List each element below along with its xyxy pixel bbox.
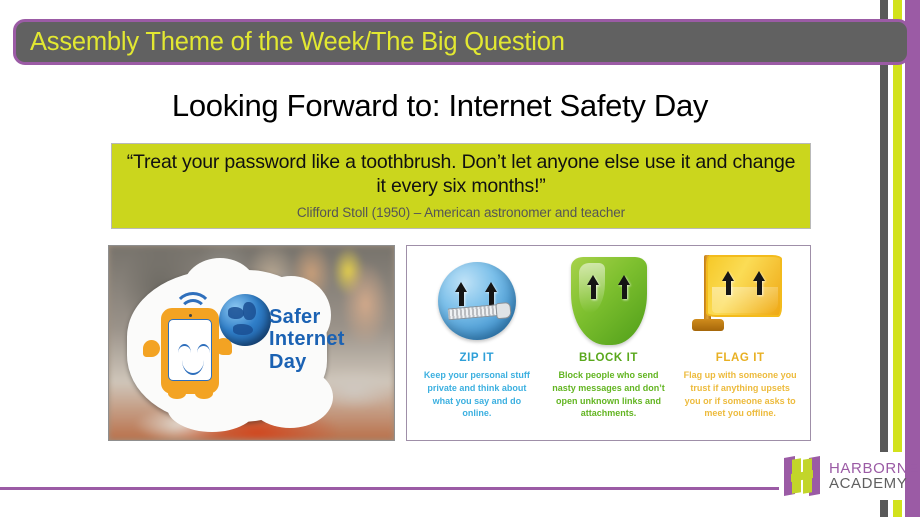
logo-text: HARBORNE ACADEMY (829, 461, 919, 491)
sign-caption-line3: Day (269, 351, 345, 373)
mascot-eye-right (197, 344, 210, 353)
bottom-divider (0, 487, 804, 490)
edge-stripe-green (893, 0, 902, 517)
globe-landmass (233, 324, 253, 335)
banner: Assembly Theme of the Week/The Big Quest… (13, 19, 910, 65)
mascot-foot-right (195, 388, 213, 399)
advice-title: ZIP IT (459, 352, 494, 364)
phone-mascot-icon (161, 308, 219, 394)
arrow-eyes (571, 275, 647, 299)
sign-lobe (247, 366, 333, 428)
photo-sign-board: Safer Internet Day (127, 270, 327, 422)
mascot-smile (182, 360, 204, 375)
advice-item-block-it: BLOCK IT Block people who send nasty mes… (543, 252, 675, 436)
school-logo: HARBORNE ACADEMY (779, 452, 905, 500)
shield-icon (571, 257, 647, 345)
mascot-foot-left (168, 388, 186, 399)
quote-attribution: Clifford Stoll (1950) – American astrono… (122, 205, 800, 220)
zipper-icon (447, 304, 504, 321)
flag-base (692, 319, 724, 331)
advice-body: Block people who send nasty messages and… (543, 369, 675, 420)
zipper-pull (495, 302, 511, 319)
globe-landmass (228, 307, 244, 319)
edge-stripe-gray (880, 0, 888, 517)
advice-body: Keep your personal stuff private and thi… (411, 369, 543, 420)
page-title: Looking Forward to: Internet Safety Day (0, 88, 880, 124)
arrow-eyes (708, 271, 780, 295)
zip-stand (455, 334, 499, 346)
phone-screen (168, 319, 212, 381)
online-safety-advice-panel: ZIP IT Keep your personal stuff private … (406, 245, 811, 441)
advice-title: FLAG IT (716, 352, 765, 364)
logo-line-harborne: HARBORNE (829, 461, 919, 476)
banner-title: Assembly Theme of the Week/The Big Quest… (16, 28, 565, 57)
globe-landmass (243, 302, 256, 320)
advice-item-flag-it: FLAG IT Flag up with someone you trust i… (674, 252, 806, 436)
advice-art (438, 252, 516, 350)
mascot-hand-left (143, 340, 160, 357)
up-arrow-icon (618, 275, 631, 299)
advice-art (694, 252, 786, 350)
sign-caption-line1: Safer (269, 306, 345, 328)
sign-caption: Safer Internet Day (269, 306, 345, 373)
advice-item-zip-it: ZIP IT Keep your personal stuff private … (411, 252, 543, 436)
up-arrow-icon (587, 275, 600, 299)
flag-icon (694, 253, 786, 349)
sign-caption-line2: Internet (269, 328, 345, 350)
quote-box: “Treat your password like a toothbrush. … (111, 143, 811, 229)
up-arrow-icon (455, 282, 468, 306)
up-arrow-icon (753, 271, 766, 295)
safer-internet-day-photo: Safer Internet Day (108, 245, 395, 441)
up-arrow-icon (722, 271, 735, 295)
phone-camera-dot (189, 314, 192, 317)
mascot-eye-left (178, 344, 191, 353)
logo-line-academy: ACADEMY (829, 476, 919, 491)
harborne-h-monogram-icon (782, 455, 822, 497)
advice-body: Flag up with someone you trust if anythi… (674, 369, 806, 420)
zip-face-icon (438, 262, 516, 340)
advice-title: BLOCK IT (579, 352, 638, 364)
edge-stripe-purple (905, 0, 920, 517)
quote-text: “Treat your password like a toothbrush. … (122, 151, 800, 199)
advice-art (571, 252, 647, 350)
